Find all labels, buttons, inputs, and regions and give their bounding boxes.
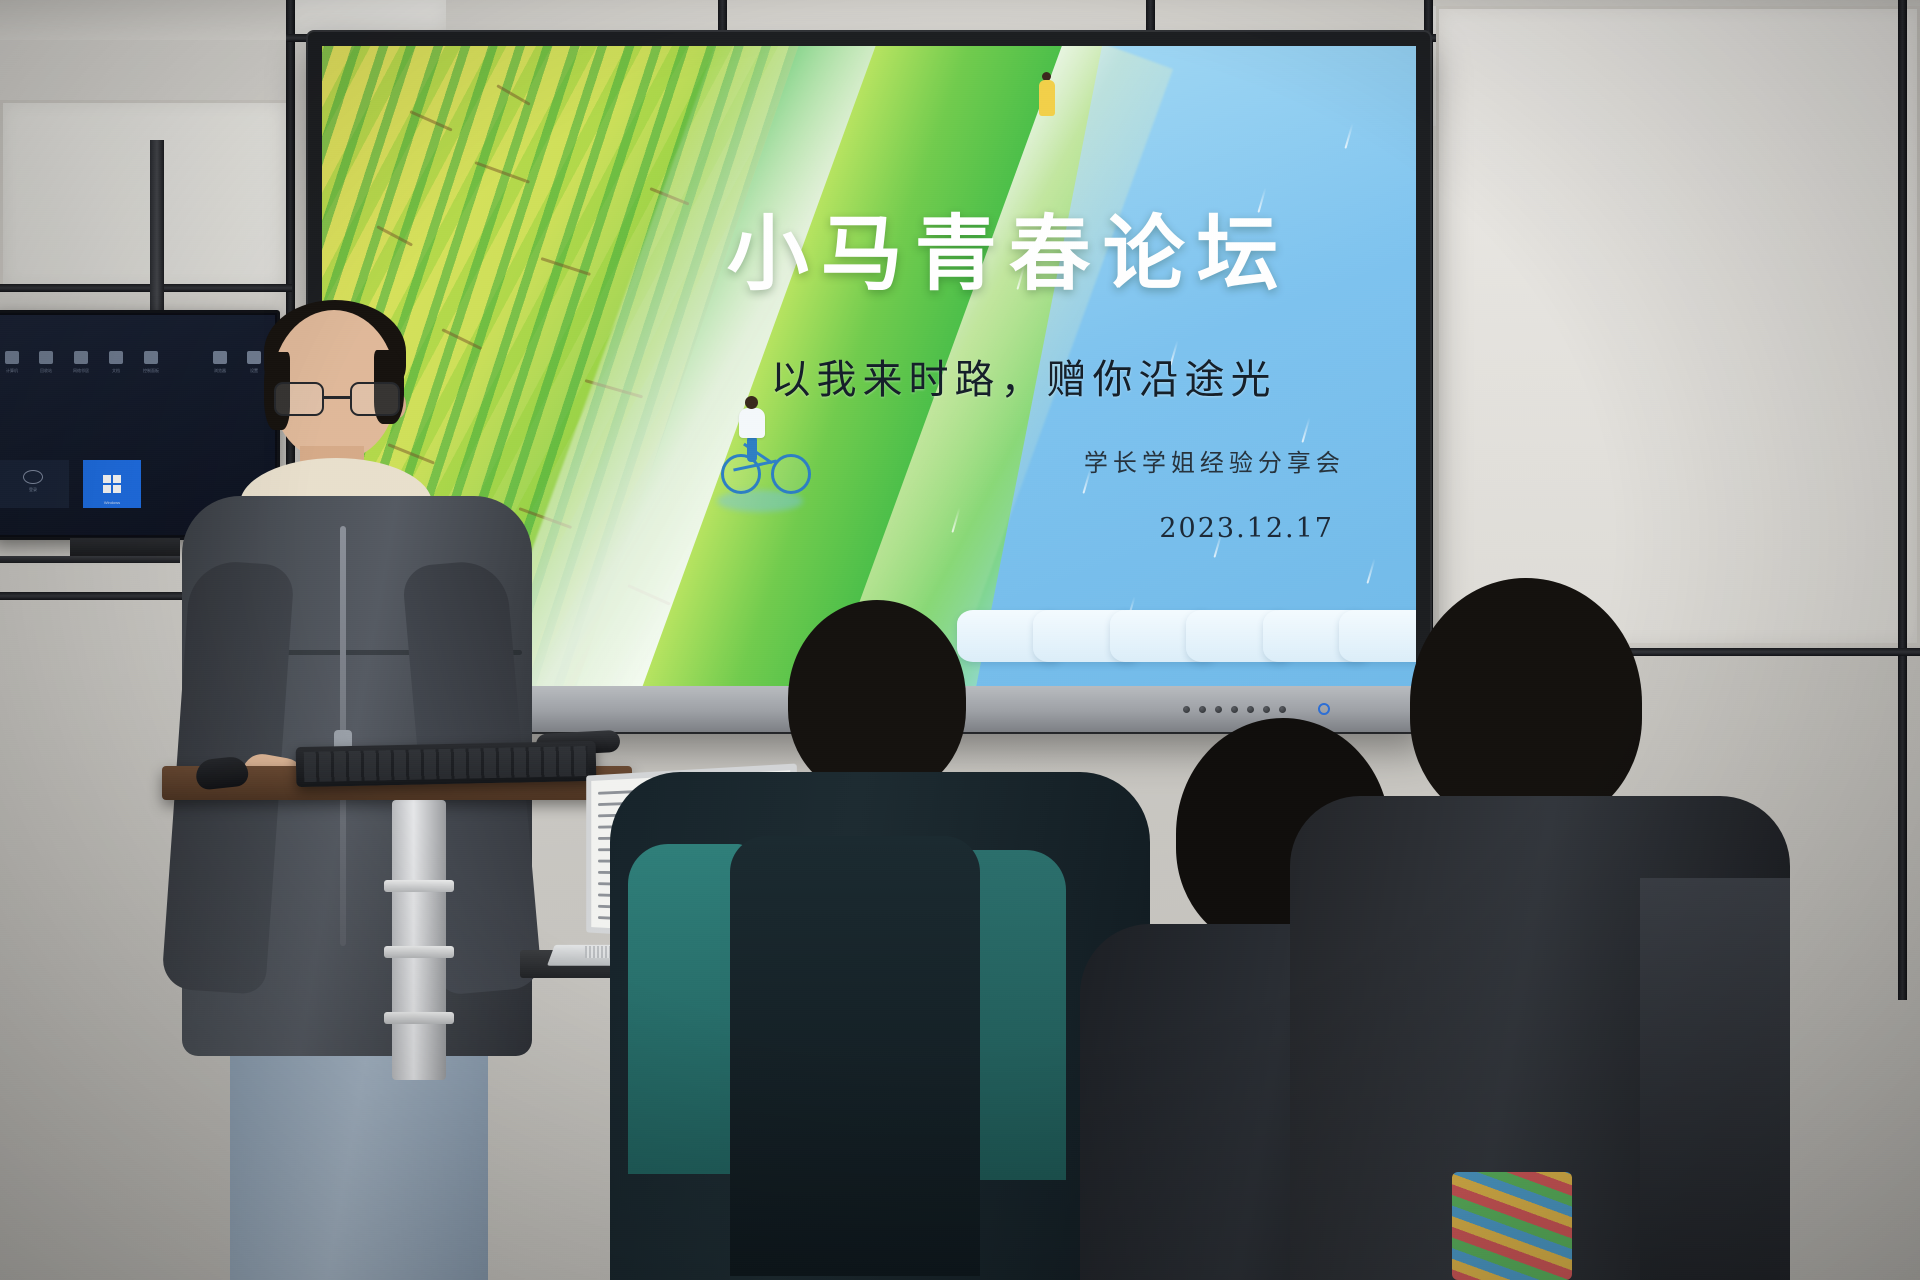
user-avatar-icon bbox=[23, 470, 43, 484]
desktop-icon[interactable]: 控制面板 bbox=[143, 351, 159, 373]
slide-title: 小马青春论坛 bbox=[727, 187, 1291, 306]
indicator-dot bbox=[1215, 706, 1222, 713]
app-icon bbox=[144, 351, 158, 364]
cyclist-torso bbox=[739, 408, 765, 438]
windows-logo-icon bbox=[103, 475, 121, 493]
glasses-lens bbox=[274, 382, 324, 416]
classroom-scene: 计算机 回收站 网络邻居 文档 控制面板 bbox=[0, 0, 1920, 1280]
desktop-icon[interactable]: 网络邻居 bbox=[73, 351, 89, 373]
audience-member-left bbox=[580, 600, 1140, 1280]
sign-in-label: 登录 bbox=[0, 487, 69, 493]
monitor-side-panel[interactable]: 登录 bbox=[0, 460, 69, 508]
app-icon bbox=[74, 351, 88, 364]
indicator-dot bbox=[1247, 706, 1254, 713]
desktop-icon-label: 控制面板 bbox=[143, 368, 159, 373]
indicator-dot bbox=[1231, 706, 1238, 713]
striped-bag bbox=[1452, 1172, 1572, 1280]
app-icon bbox=[5, 351, 19, 364]
monitor-arm bbox=[0, 556, 180, 563]
lectern-column bbox=[392, 800, 446, 1080]
bicycle-wheel-front bbox=[771, 454, 811, 494]
desktop-icon-label: 文档 bbox=[109, 368, 123, 373]
wall-mullion-5 bbox=[1898, 0, 1907, 1000]
app-icon bbox=[39, 351, 53, 364]
cyclist-head bbox=[745, 396, 758, 409]
desktop-icon[interactable]: 计算机 bbox=[5, 351, 19, 373]
windows-tile-label: Windows bbox=[83, 500, 141, 505]
slide-walker-figure bbox=[1039, 72, 1055, 116]
cyclist-leg bbox=[747, 436, 757, 462]
whiteboard-far-left bbox=[0, 100, 292, 290]
indicator-dot bbox=[1183, 706, 1190, 713]
app-icon bbox=[109, 351, 123, 364]
glasses-bridge bbox=[324, 396, 350, 399]
desktop-icon[interactable]: 回收站 bbox=[39, 351, 53, 373]
desktop-icon-label: 回收站 bbox=[39, 368, 53, 373]
desktop-icon[interactable]: 文档 bbox=[109, 351, 123, 373]
whiteboard-far-right bbox=[1436, 6, 1920, 646]
audience-front-panel bbox=[730, 836, 980, 1276]
desktop-icon-label: 计算机 bbox=[5, 368, 19, 373]
presenter bbox=[168, 300, 558, 1080]
indicator-dot bbox=[1263, 706, 1270, 713]
windows-tile[interactable]: Windows bbox=[83, 460, 141, 508]
glasses-icon bbox=[274, 382, 400, 416]
indicator-dot bbox=[1199, 706, 1206, 713]
indicator-dot bbox=[1279, 706, 1286, 713]
audience-shoulder bbox=[1640, 878, 1790, 1280]
lectern-rung bbox=[384, 946, 454, 958]
slide-date: 2023.12.17 bbox=[1159, 513, 1334, 544]
slide-event-line: 学长学姐经验分享会 bbox=[1084, 443, 1345, 478]
glasses-lens bbox=[350, 382, 400, 416]
wall-rail-left bbox=[0, 284, 292, 292]
audience-head bbox=[788, 600, 966, 796]
audience-head bbox=[1410, 578, 1642, 828]
lectern-rung bbox=[384, 1012, 454, 1024]
lectern-rung bbox=[384, 880, 454, 892]
desktop-icon-label: 网络邻居 bbox=[73, 368, 89, 373]
slide-subtitle: 以我来时路，赠你沿途光 bbox=[771, 347, 1277, 405]
walker-dress bbox=[1039, 80, 1055, 116]
